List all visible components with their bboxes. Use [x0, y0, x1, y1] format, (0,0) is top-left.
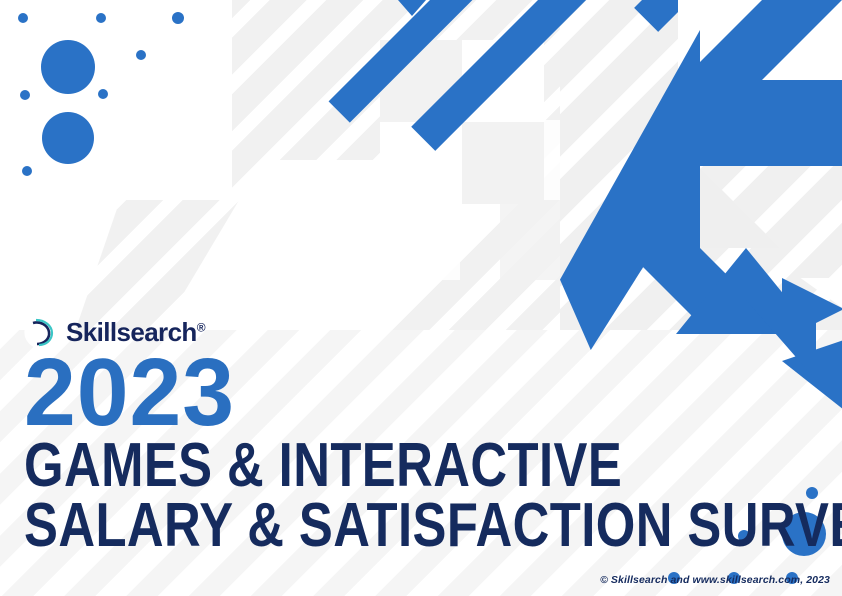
headline-line-2: SALARY & SATISFACTION SURVEY — [24, 496, 842, 556]
copyright-notice: © Skillsearch and www.skillsearch.com, 2… — [600, 574, 830, 586]
dot — [136, 50, 146, 60]
white-wedge-left — [0, 0, 232, 200]
small-blue-triangle-top — [398, 0, 426, 16]
dot — [22, 166, 32, 176]
registered-trademark-icon: ® — [197, 320, 205, 334]
dot — [96, 13, 106, 23]
cover-content: Skillsearch® 2023 GAMES & INTERACTIVE SA… — [24, 315, 842, 556]
white-block-c — [380, 204, 500, 324]
dot-large — [42, 112, 94, 164]
gray-block-b — [462, 122, 544, 204]
dot — [20, 90, 30, 100]
survey-year: 2023 — [24, 353, 842, 434]
dot-large — [41, 40, 95, 94]
survey-cover-page: Skillsearch® 2023 GAMES & INTERACTIVE SA… — [0, 0, 842, 596]
headline-line-1: GAMES & INTERACTIVE — [24, 436, 842, 496]
dot — [98, 89, 108, 99]
dot — [18, 13, 28, 23]
cover-headline: GAMES & INTERACTIVE SALARY & SATISFACTIO… — [24, 436, 842, 556]
dot — [172, 12, 184, 24]
